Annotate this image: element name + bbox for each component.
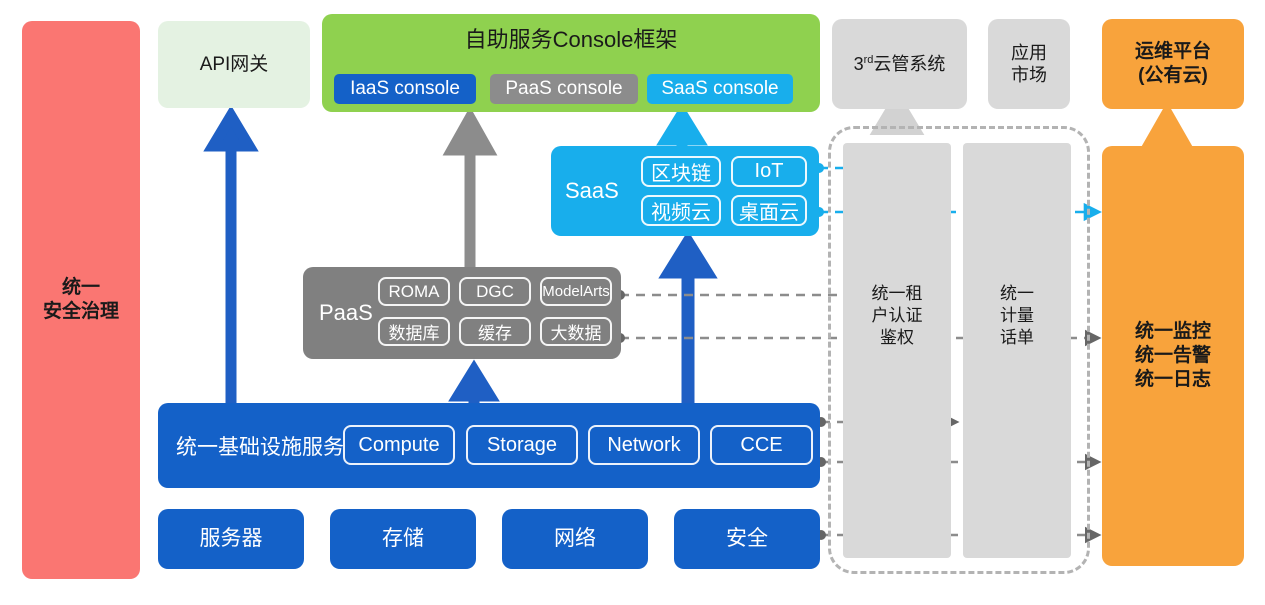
console-framework-panel: 自助服务Console框架 IaaS console PaaS console … xyxy=(322,14,820,112)
billing-line-2: 计量 xyxy=(963,305,1071,327)
auth-strip xyxy=(843,143,951,558)
ops-platform-card[interactable]: 运维平台 (公有云) xyxy=(1102,19,1244,109)
resource-box-security-label: 安全 xyxy=(726,526,768,552)
auth-line-2: 户认证 xyxy=(843,305,951,327)
saas-item-desktop-cloud-label: 桌面云 xyxy=(739,196,799,225)
infra-item-compute[interactable]: Compute xyxy=(343,425,455,465)
paas-title: PaaS xyxy=(319,300,373,326)
security-governance-line-1: 统一 xyxy=(62,276,100,300)
third-party-cloud-mgmt-card[interactable]: 3rd云管系统 xyxy=(832,19,967,109)
paas-item-dgc-label: DGC xyxy=(476,282,514,302)
paas-console-chip[interactable]: PaaS console xyxy=(490,74,638,104)
saas-item-iot-label: IoT xyxy=(755,160,784,183)
saas-panel: SaaS 区块链 IoT 视频云 桌面云 xyxy=(551,146,819,236)
saas-console-chip[interactable]: SaaS console xyxy=(647,74,793,104)
paas-item-modelarts-label: ModelArts xyxy=(542,283,610,300)
api-gateway-card[interactable]: API网关 xyxy=(158,21,310,108)
billing-strip xyxy=(963,143,1071,558)
arrow-monitoring-to-ops xyxy=(1151,114,1183,145)
saas-title: SaaS xyxy=(565,178,619,204)
paas-item-database[interactable]: 数据库 xyxy=(378,317,450,346)
resource-box-network-label: 网络 xyxy=(554,526,596,552)
auth-strip-label: 统一租 户认证 鉴权 xyxy=(843,283,951,349)
app-market-card[interactable]: 应用 市场 xyxy=(988,19,1070,109)
paas-item-cache-label: 缓存 xyxy=(478,319,512,344)
arrow-saas-to-saasconsole xyxy=(666,114,698,150)
ops-platform-line-2: (公有云) xyxy=(1138,64,1208,88)
resource-box-server-label: 服务器 xyxy=(200,526,263,552)
monitoring-line-1: 统一监控 xyxy=(1135,320,1211,344)
arrow-infra-to-apigateway xyxy=(213,116,249,403)
resource-box-network[interactable]: 网络 xyxy=(502,509,648,569)
third-party-sup: rd xyxy=(864,54,874,66)
infra-item-compute-label: Compute xyxy=(358,434,439,457)
infra-item-cce-label: CCE xyxy=(740,434,782,457)
paas-panel: PaaS ROMA DGC ModelArts 数据库 缓存 大数据 xyxy=(303,267,621,359)
infra-item-network[interactable]: Network xyxy=(588,425,700,465)
paas-item-database-label: 数据库 xyxy=(389,319,440,344)
paas-console-label: PaaS console xyxy=(505,77,622,101)
paas-item-bigdata[interactable]: 大数据 xyxy=(540,317,612,346)
app-market-line-2: 市场 xyxy=(1011,64,1047,87)
third-party-prefix: 3 xyxy=(854,54,864,74)
saas-item-desktop-cloud[interactable]: 桌面云 xyxy=(731,195,807,226)
arrow-paas-to-console xyxy=(452,118,488,272)
paas-item-dgc[interactable]: DGC xyxy=(459,277,531,306)
arrow-infra-to-saas xyxy=(670,243,706,403)
dashed-paas-to-auth xyxy=(615,290,856,300)
arrow-infra-to-paas xyxy=(458,370,490,403)
saas-item-video-cloud-label: 视频云 xyxy=(651,196,711,225)
app-market-line-1: 应用 xyxy=(1011,42,1047,65)
billing-strip-label: 统一 计量 话单 xyxy=(963,283,1071,349)
api-gateway-label: API网关 xyxy=(200,53,269,77)
infrastructure-bar: 统一基础设施服务 Compute Storage Network CCE xyxy=(158,403,820,488)
paas-item-roma-label: ROMA xyxy=(389,282,440,302)
security-governance-column[interactable]: 统一 安全治理 xyxy=(22,21,140,579)
monitoring-line-3: 统一日志 xyxy=(1135,368,1211,392)
console-framework-title: 自助服务Console框架 xyxy=(322,26,820,54)
architecture-diagram: 统一租 户认证 鉴权 统一 计量 话单 统一 安全治理 API网关 自助服务Co… xyxy=(0,0,1265,605)
third-party-rest: 云管系统 xyxy=(873,54,945,74)
ops-platform-line-1: 运维平台 xyxy=(1135,40,1211,64)
paas-item-cache[interactable]: 缓存 xyxy=(459,317,531,346)
infra-item-storage[interactable]: Storage xyxy=(466,425,578,465)
monitoring-line-2: 统一告警 xyxy=(1135,344,1211,368)
third-party-cloud-mgmt-label: 3rd云管系统 xyxy=(854,53,946,76)
resource-box-security[interactable]: 安全 xyxy=(674,509,820,569)
billing-line-3: 话单 xyxy=(963,327,1071,349)
saas-item-video-cloud[interactable]: 视频云 xyxy=(641,195,721,226)
iaas-console-chip[interactable]: IaaS console xyxy=(334,74,476,104)
auth-line-1: 统一租 xyxy=(843,283,951,305)
infrastructure-title: 统一基础设施服务 xyxy=(176,431,344,461)
billing-line-1: 统一 xyxy=(963,283,1071,305)
auth-line-3: 鉴权 xyxy=(843,327,951,349)
security-governance-line-2: 安全治理 xyxy=(43,300,119,324)
saas-item-blockchain-label: 区块链 xyxy=(651,157,711,186)
paas-item-roma[interactable]: ROMA xyxy=(378,277,450,306)
resource-box-storage-label: 存储 xyxy=(382,526,424,552)
paas-item-modelarts[interactable]: ModelArts xyxy=(540,277,612,306)
resource-box-server[interactable]: 服务器 xyxy=(158,509,304,569)
paas-item-bigdata-label: 大数据 xyxy=(551,319,602,344)
iaas-console-label: IaaS console xyxy=(350,77,460,101)
infra-item-storage-label: Storage xyxy=(487,434,557,457)
infra-item-cce[interactable]: CCE xyxy=(710,425,813,465)
infra-item-network-label: Network xyxy=(607,434,680,457)
monitoring-column[interactable]: 统一监控 统一告警 统一日志 xyxy=(1102,146,1244,566)
saas-item-blockchain[interactable]: 区块链 xyxy=(641,156,721,187)
resource-box-storage[interactable]: 存储 xyxy=(330,509,476,569)
saas-console-label: SaaS console xyxy=(661,77,778,101)
saas-item-iot[interactable]: IoT xyxy=(731,156,807,187)
